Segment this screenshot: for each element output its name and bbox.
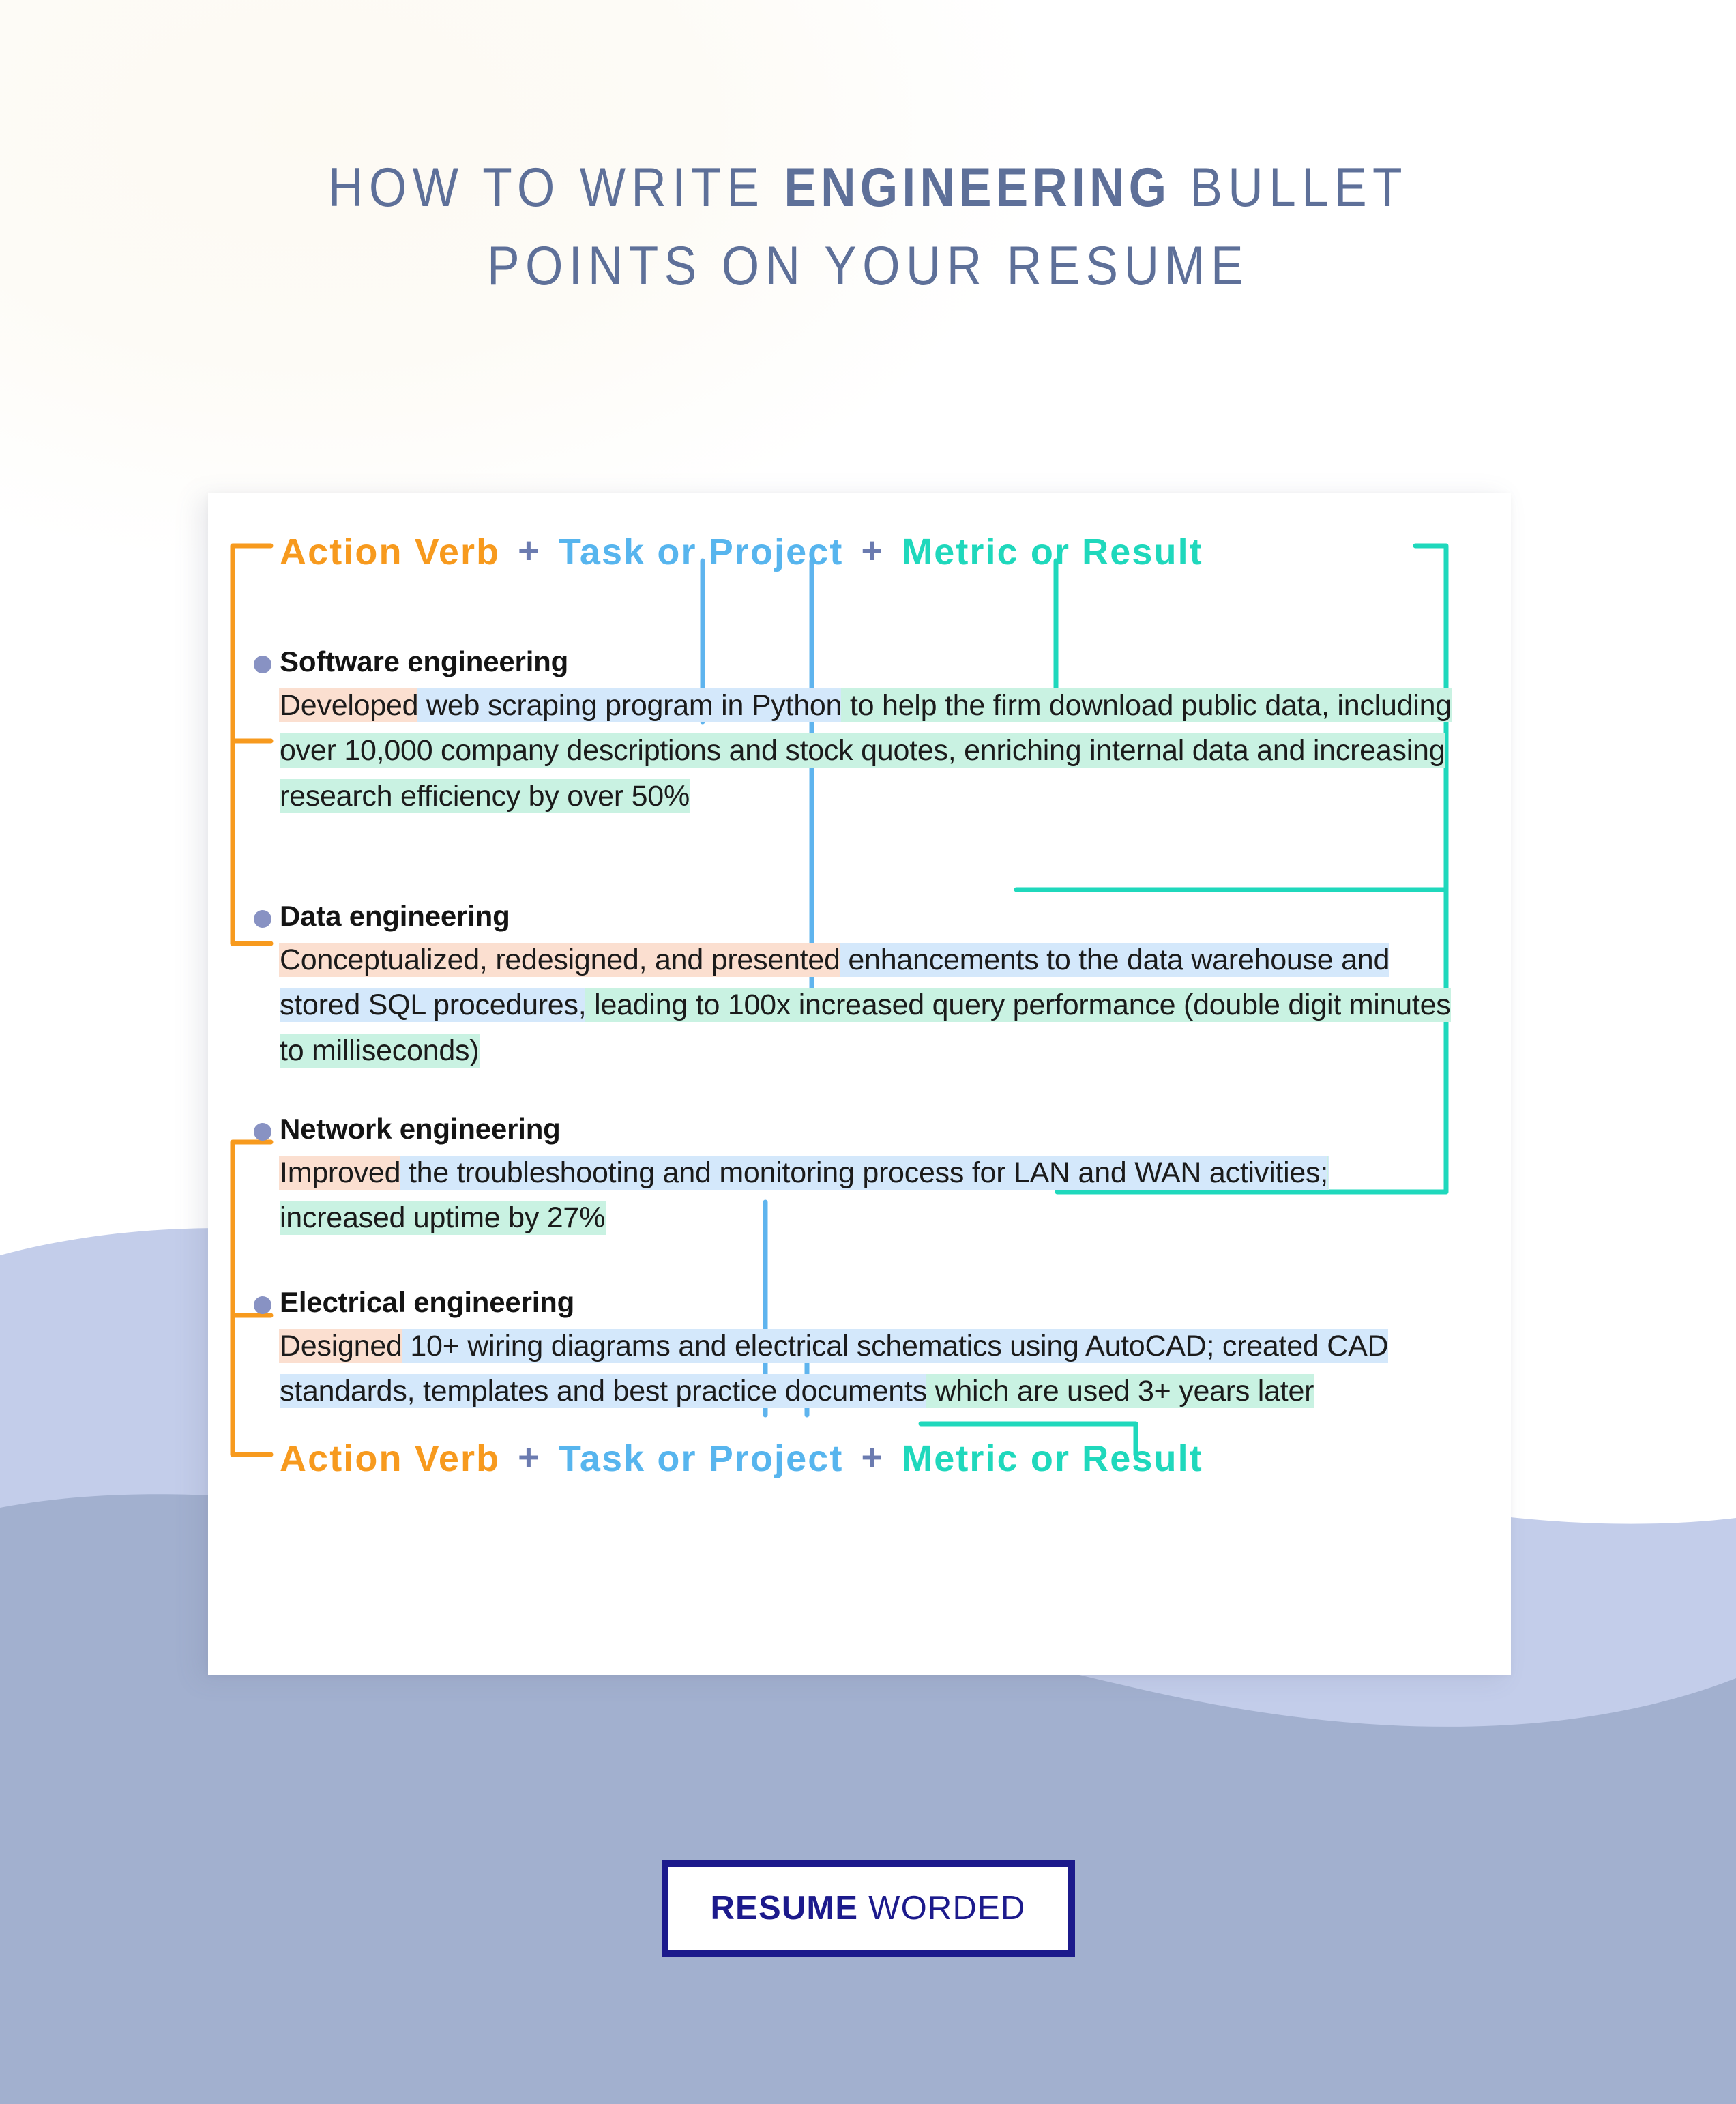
bullet-block-electrical-engineering: Electrical engineering Designed 10+ wiri… xyxy=(280,1285,1453,1414)
page-title-line-2: POINTS ON YOUR RESUME xyxy=(104,227,1632,306)
legend-task-project: Task or Project xyxy=(559,531,844,573)
bullet-block-network-engineering: Network engineering Improved the trouble… xyxy=(280,1111,1453,1241)
bullet-text: Conceptualized, redesigned, and presente… xyxy=(280,937,1453,1073)
highlight-metric-result: increased uptime by 27% xyxy=(280,1201,605,1234)
legend-plus-2: + xyxy=(843,529,902,572)
highlight-metric-result: which are used 3+ years later xyxy=(927,1375,1314,1407)
bullet-block-software-engineering: Software engineering Developed web scrap… xyxy=(280,644,1453,819)
highlight-task-project: the troubleshooting and monitoring proce… xyxy=(400,1156,1328,1189)
bullet-heading: Software engineering xyxy=(280,644,1453,679)
legend-action-verb: Action Verb xyxy=(280,531,500,573)
highlight-action-verb: Conceptualized, redesigned, and presente… xyxy=(280,944,840,976)
legend-plus-1: + xyxy=(500,1436,559,1478)
infographic-canvas: HOW TO WRITE ENGINEERING BULLET POINTS O… xyxy=(0,0,1736,2104)
page-title: HOW TO WRITE ENGINEERING BULLET POINTS O… xyxy=(0,149,1736,306)
legend-plus-2: + xyxy=(843,1436,902,1478)
bullet-dot-icon xyxy=(254,910,271,928)
highlight-action-verb: Developed xyxy=(280,689,418,722)
logo-text: RESUME WORDED xyxy=(710,1889,1025,1927)
bullet-dot-icon xyxy=(254,1123,271,1141)
bullet-text: Improved the troubleshooting and monitor… xyxy=(280,1150,1453,1240)
bullet-block-data-engineering: Data engineering Conceptualized, redesig… xyxy=(280,898,1453,1073)
logo-regular-part: WORDED xyxy=(858,1890,1025,1927)
highlight-action-verb: Designed xyxy=(280,1330,402,1362)
legend-action-verb: Action Verb xyxy=(280,1437,500,1480)
title-part-pre: HOW TO WRITE xyxy=(328,157,784,218)
legend-top: Action Verb + Task or Project + Metric o… xyxy=(280,531,1203,573)
highlight-task-project: web scraping program in Python xyxy=(418,689,842,722)
bullet-heading: Network engineering xyxy=(280,1111,1453,1146)
legend-task-project: Task or Project xyxy=(559,1437,844,1480)
bullet-heading: Data engineering xyxy=(280,898,1453,933)
bullet-dot-icon xyxy=(254,656,271,673)
page-title-line-1: HOW TO WRITE ENGINEERING BULLET xyxy=(104,149,1632,227)
legend-bottom: Action Verb + Task or Project + Metric o… xyxy=(280,1437,1203,1480)
resume-worded-logo[interactable]: RESUME WORDED xyxy=(662,1860,1075,1957)
teal-bracket-top xyxy=(1016,546,1446,1192)
highlight-action-verb: Improved xyxy=(280,1156,400,1189)
bullet-dot-icon xyxy=(254,1296,271,1314)
bullet-heading: Electrical engineering xyxy=(280,1285,1453,1319)
legend-plus-1: + xyxy=(500,529,559,572)
title-part-post: BULLET xyxy=(1171,157,1408,218)
bullet-text: Developed web scraping program in Python… xyxy=(280,683,1453,819)
bullet-text: Designed 10+ wiring diagrams and electri… xyxy=(280,1324,1453,1414)
orange-bracket-top xyxy=(233,546,271,944)
resume-example-card: Action Verb + Task or Project + Metric o… xyxy=(208,493,1511,1675)
legend-metric-result: Metric or Result xyxy=(902,1437,1203,1480)
legend-metric-result: Metric or Result xyxy=(902,531,1203,573)
logo-bold-part: RESUME xyxy=(710,1890,858,1927)
title-part-bold: ENGINEERING xyxy=(784,157,1171,218)
